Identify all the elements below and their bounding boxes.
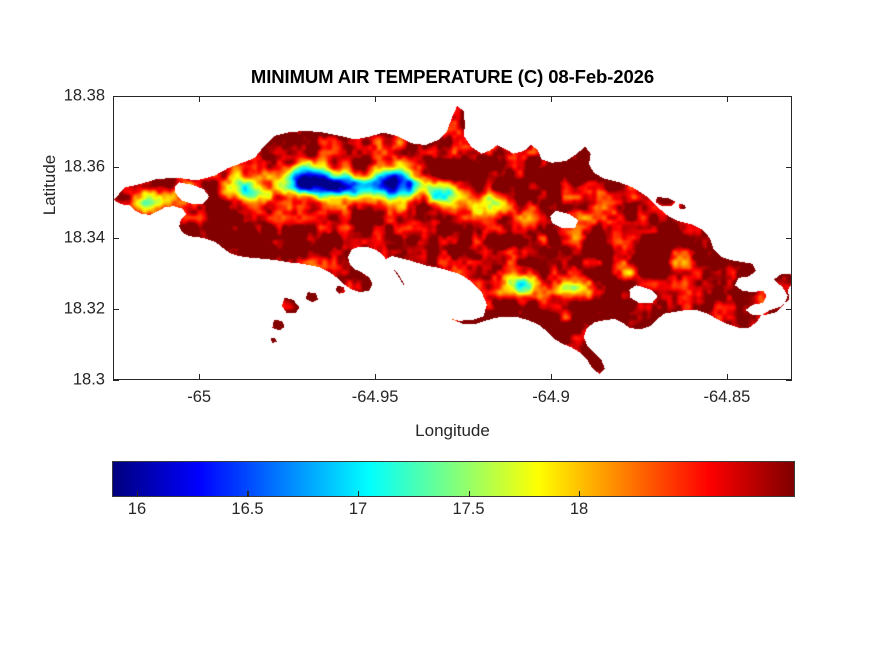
y-axis-tick-label: 18.3 [5, 371, 105, 390]
x-axis-tick [727, 374, 728, 380]
temperature-heatmap [114, 97, 792, 380]
colorbar-tick-label: 18 [570, 500, 588, 519]
y-axis-tick [786, 167, 792, 168]
page-title: MINIMUM AIR TEMPERATURE (C) 08-Feb-2026 [113, 66, 792, 88]
x-axis-tick-label: -64.85 [704, 388, 751, 407]
figure-canvas: MINIMUM AIR TEMPERATURE (C) 08-Feb-2026 … [0, 0, 875, 656]
y-axis-tick [113, 96, 119, 97]
x-axis-label: Longitude [113, 421, 792, 441]
y-axis-tick [113, 309, 119, 310]
x-axis-tick-label: -64.95 [352, 388, 399, 407]
x-axis-tick [551, 96, 552, 102]
x-axis-tick [375, 96, 376, 102]
colorbar-tick [469, 491, 470, 497]
y-axis-tick-label: 18.32 [5, 300, 105, 319]
colorbar-tick [247, 491, 248, 497]
x-axis-tick-label: -65 [187, 388, 211, 407]
y-axis-tick [786, 96, 792, 97]
x-axis-tick [551, 374, 552, 380]
y-axis-tick [113, 167, 119, 168]
y-axis-tick [786, 380, 792, 381]
colorbar-tick-label: 16 [128, 500, 146, 519]
colorbar-gradient [112, 461, 795, 497]
y-axis-tick [786, 309, 792, 310]
y-axis-tick [113, 380, 119, 381]
map-axes[interactable] [113, 96, 792, 380]
x-axis-tick [199, 374, 200, 380]
colorbar-tick [579, 491, 580, 497]
x-axis-tick [727, 96, 728, 102]
colorbar-tick-label: 17 [349, 500, 367, 519]
y-axis-label: Latitude [40, 105, 60, 265]
y-axis-tick-label: 18.38 [5, 87, 105, 106]
colorbar-tick [358, 491, 359, 497]
colorbar[interactable] [112, 461, 795, 497]
colorbar-tick [137, 491, 138, 497]
x-axis-tick [375, 374, 376, 380]
y-axis-tick [786, 238, 792, 239]
y-axis-tick [113, 238, 119, 239]
colorbar-tick-label: 16.5 [231, 500, 263, 519]
x-axis-tick-label: -64.9 [532, 388, 570, 407]
colorbar-tick-label: 17.5 [452, 500, 484, 519]
x-axis-tick [199, 96, 200, 102]
